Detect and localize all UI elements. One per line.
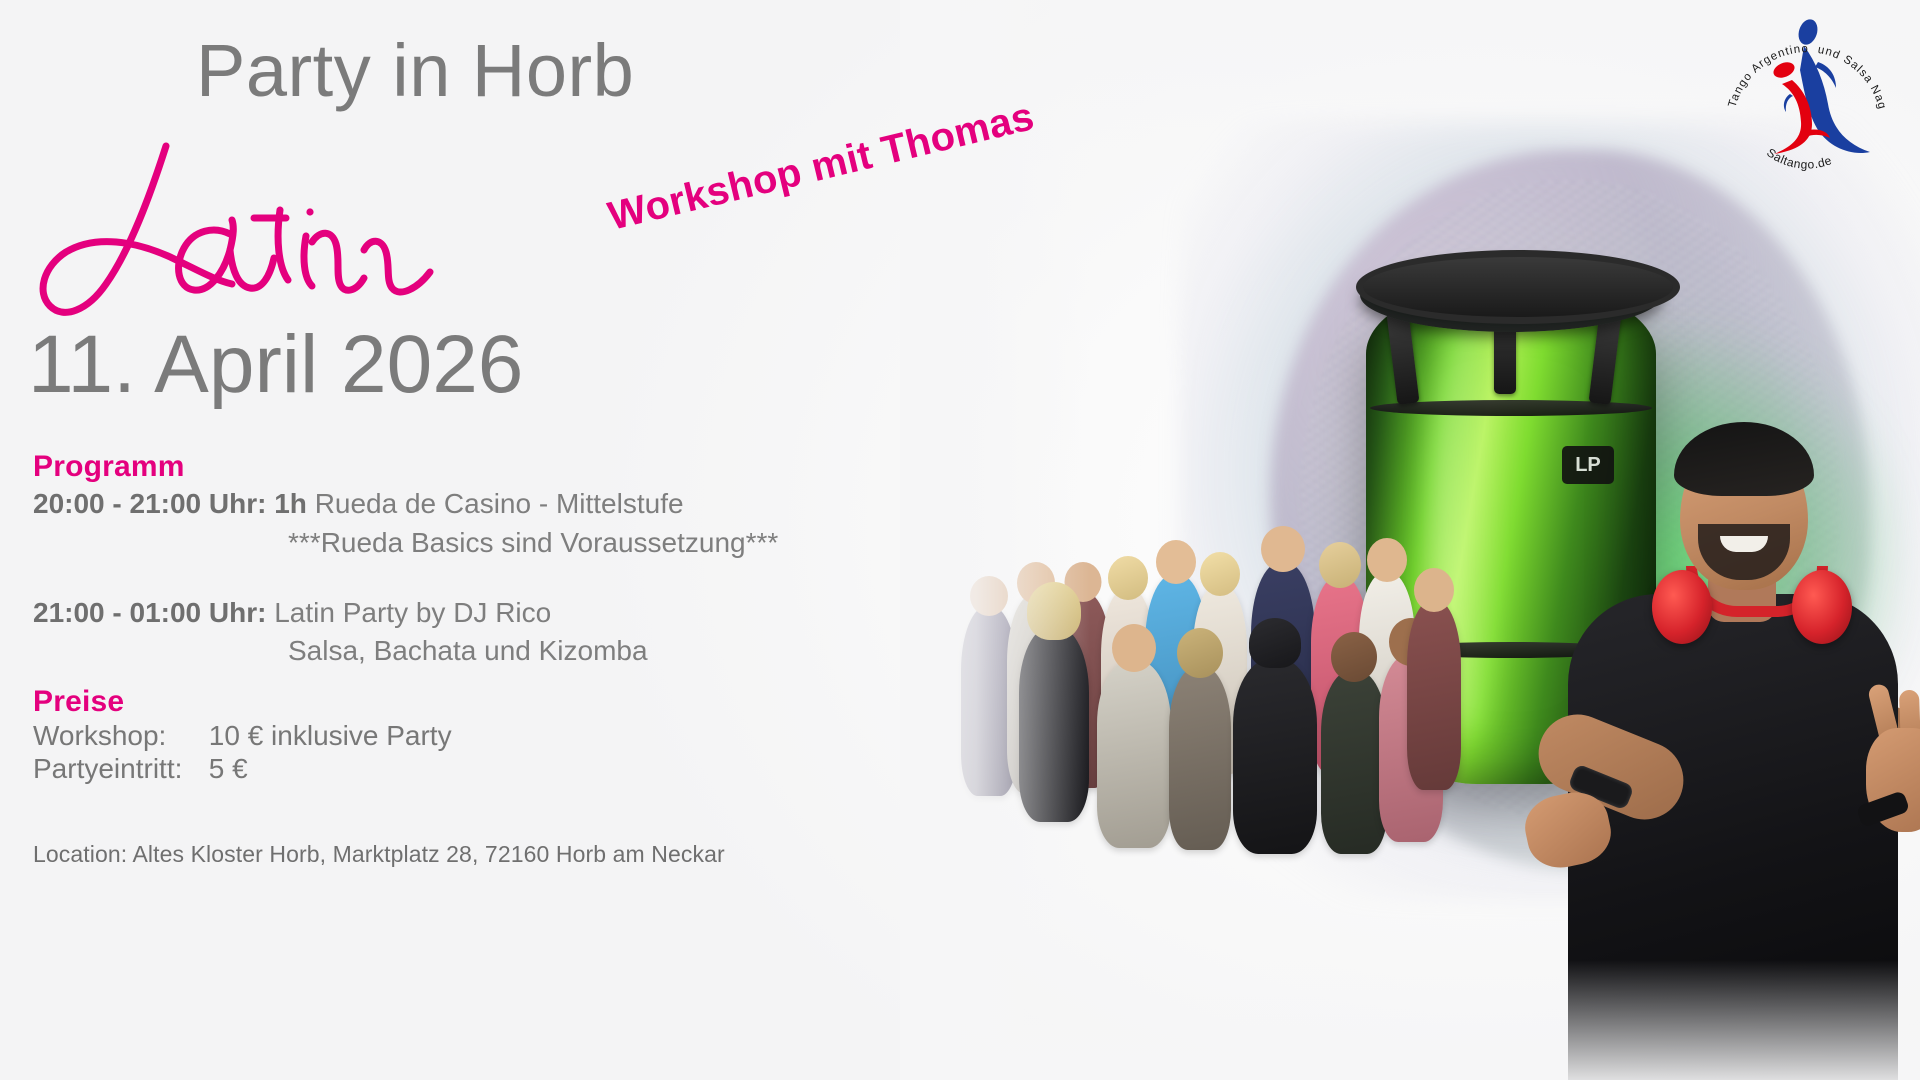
price-row: Workshop: 10 € inklusive Party [33,720,452,752]
logo-arc-bottom: Saltango.de [1764,145,1834,171]
program-note: Salsa, Bachata und Kizomba [288,635,648,667]
price-row: Partyeintritt: 5 € [33,753,248,785]
price-value: 5 € [209,753,248,784]
programm-heading: Programm [33,450,185,484]
price-label: Partyeintritt: [33,753,201,785]
program-description: Rueda de Casino - Mittelstufe [315,488,684,519]
event-date: 11. April 2026 [28,318,523,412]
program-row: 20:00 - 21:00 Uhr: 1h Rueda de Casino - … [33,488,684,520]
text-content: Party in Horb 11. April 2026 Workshop mi… [0,0,1920,1080]
flyer-canvas: Party in Horb 11. April 2026 Workshop mi… [0,0,1920,1080]
program-row: 21:00 - 01:00 Uhr: Latin Party by DJ Ric… [33,597,551,629]
program-description: Latin Party by DJ Rico [274,597,551,628]
svg-text:Saltango.de: Saltango.de [1764,145,1834,171]
price-value: 10 € inklusive Party [209,720,452,751]
preise-heading: Preise [33,685,124,719]
page-title: Party in Horb [196,28,634,113]
price-label: Workshop: [33,720,201,752]
program-note: ***Rueda Basics sind Voraussetzung*** [288,527,778,559]
latin-script-wordmark [18,138,448,338]
program-duration: 1h [274,488,307,519]
program-time: 20:00 - 21:00 Uhr: [33,488,266,519]
program-time: 21:00 - 01:00 Uhr: [33,597,266,628]
location-line: Location: Altes Kloster Horb, Marktplatz… [33,841,725,868]
saltango-logo: Tango Argentino und Salsa Nagold e.V. Sa… [1712,10,1902,185]
workshop-banner: Workshop mit Thomas [604,94,1039,240]
